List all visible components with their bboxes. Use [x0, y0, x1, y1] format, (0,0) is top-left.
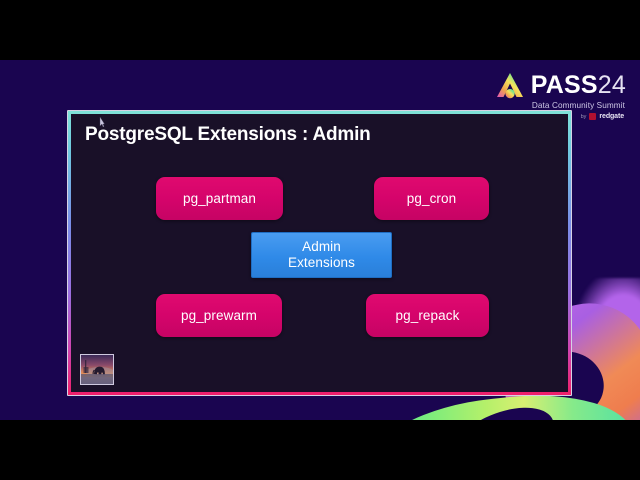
page-title: PostgreSQL Extensions : Admin [85, 124, 371, 146]
extension-node-label: pg_partman [183, 191, 256, 206]
extension-node-label: pg_cron [407, 191, 457, 206]
pass-chevron-logo-icon [494, 70, 526, 100]
parent-company-name: redgate [599, 113, 624, 120]
brand-by-label: by [581, 114, 587, 120]
decorative-blob-green-notch [446, 396, 562, 420]
letterbox-bar-bottom [0, 420, 640, 480]
extension-node-pg-partman[interactable]: pg_partman [156, 177, 283, 220]
brand-year: 24 [598, 73, 626, 98]
extension-node-label: pg_prewarm [181, 308, 257, 323]
extension-node-pg-cron[interactable]: pg_cron [374, 177, 489, 220]
center-node-admin-extensions[interactable]: Admin Extensions [251, 232, 392, 278]
brand-name: PASS [531, 73, 598, 98]
slide-content-area: PostgreSQL Extensions : Admin pg_partman… [71, 114, 568, 392]
letterbox-bar-top [0, 0, 640, 60]
video-player-frame: PASS 24 Data Community Summit by redgate… [0, 0, 640, 480]
brand-tagline: Data Community Summit [532, 101, 625, 110]
center-node-label-line1: Admin [288, 239, 355, 255]
brand-wordmark: PASS 24 [531, 73, 626, 98]
slide-card: PostgreSQL Extensions : Admin pg_partman… [67, 110, 572, 396]
center-node-label-line2: Extensions [288, 255, 355, 271]
brand-logo-row: PASS 24 [494, 70, 626, 100]
center-node-text: Admin Extensions [288, 239, 355, 271]
extension-node-label: pg_repack [396, 308, 460, 323]
elephant-sunset-photo-icon [80, 354, 114, 385]
presentation-stage: PASS 24 Data Community Summit by redgate… [0, 60, 640, 420]
extension-node-pg-prewarm[interactable]: pg_prewarm [156, 294, 282, 337]
extension-node-pg-repack[interactable]: pg_repack [366, 294, 489, 337]
redgate-badge-icon [589, 113, 596, 120]
text-cursor-icon [98, 117, 105, 127]
brand-byline: by redgate [581, 113, 624, 120]
